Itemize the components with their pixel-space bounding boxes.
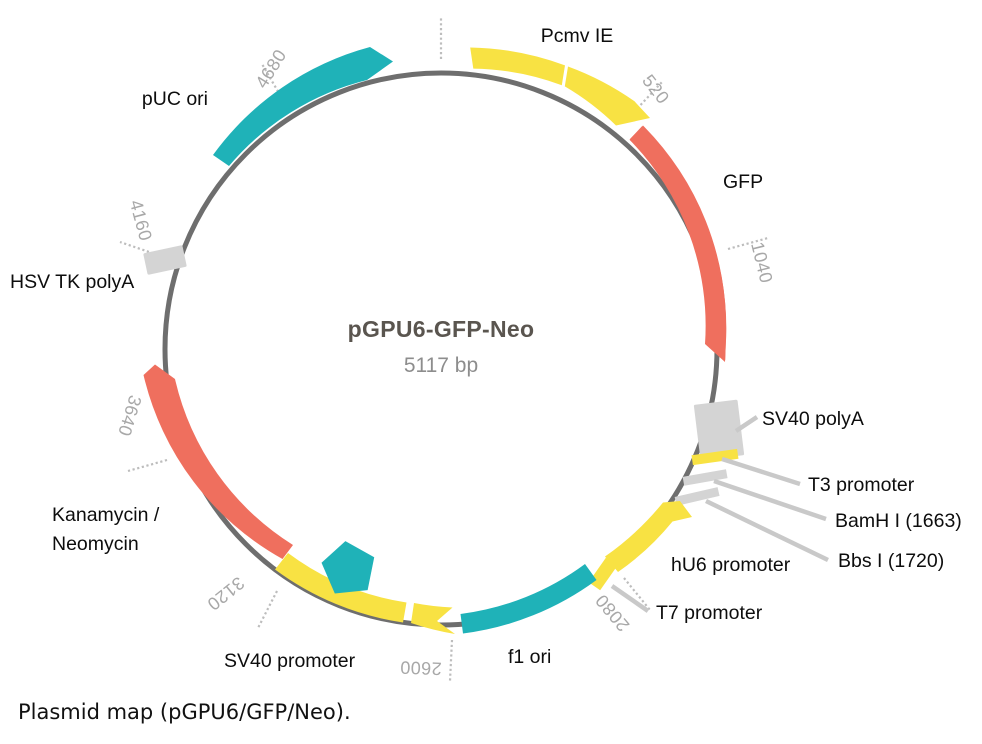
leader-bbsi: [706, 501, 828, 560]
label-neomycin: Neomycin: [52, 533, 139, 555]
label-gfp: GFP: [723, 171, 763, 193]
label-f1-ori: f1 ori: [508, 646, 551, 668]
plasmid-map-canvas: pUC ori Pcmv IE GFP SV40 polyA T3 promot…: [0, 0, 982, 744]
feature-pcmv-ie[interactable]: [470, 48, 650, 126]
label-bamhi-site: BamH I (1663): [835, 510, 962, 532]
label-t3-promoter: T3 promoter: [808, 474, 915, 496]
label-sv40-promoter: SV40 promoter: [224, 650, 356, 672]
tick-label-2600: 2600: [400, 657, 442, 678]
plasmid-name: pGPU6-GFP-Neo: [348, 316, 535, 342]
tick-label-4680: 4680: [251, 46, 290, 92]
figure-caption: Plasmid map (pGPU6/GFP/Neo).: [18, 700, 351, 724]
feature-labels: pUC ori Pcmv IE GFP SV40 polyA T3 promot…: [10, 25, 962, 672]
label-puc-ori: pUC ori: [142, 88, 208, 110]
tick-marks: [120, 18, 768, 681]
label-pcmv-ie: Pcmv IE: [541, 25, 614, 47]
label-t7-promoter: T7 promoter: [656, 602, 763, 624]
center-title-block: pGPU6-GFP-Neo 5117 bp: [348, 316, 535, 377]
tick-mark-3640: [128, 460, 167, 471]
feature-hsv-tk-polya[interactable]: [143, 245, 187, 275]
plasmid-size: 5117 bp: [404, 354, 478, 377]
plasmid-map-figure: pUC ori Pcmv IE GFP SV40 polyA T3 promot…: [0, 0, 982, 744]
tick-label-3120: 3120: [203, 573, 248, 615]
tick-label-4160: 4160: [126, 198, 156, 243]
label-bbsi-site: Bbs I (1720): [838, 550, 944, 572]
label-sv40-polya: SV40 polyA: [762, 408, 864, 430]
feature-unlabeled-yellow-arrow[interactable]: [411, 603, 455, 634]
feature-puc-ori[interactable]: [213, 47, 393, 166]
tick-label-3640: 3640: [114, 393, 145, 439]
leader-t3-promoter: [722, 459, 800, 484]
feature-f1-ori[interactable]: [461, 564, 597, 634]
tick-mark-3120: [258, 591, 277, 628]
label-hsv-tk-polya: HSV TK polyA: [10, 271, 134, 293]
tick-mark-2600: [450, 640, 452, 681]
tick-label-1040: 1040: [747, 240, 776, 285]
label-hu6-promoter: hU6 promoter: [671, 554, 791, 576]
feature-kanamycin-neomycin[interactable]: [144, 365, 294, 560]
label-kanamycin: Kanamycin /: [52, 504, 160, 526]
tick-label-520: 520: [638, 71, 673, 108]
